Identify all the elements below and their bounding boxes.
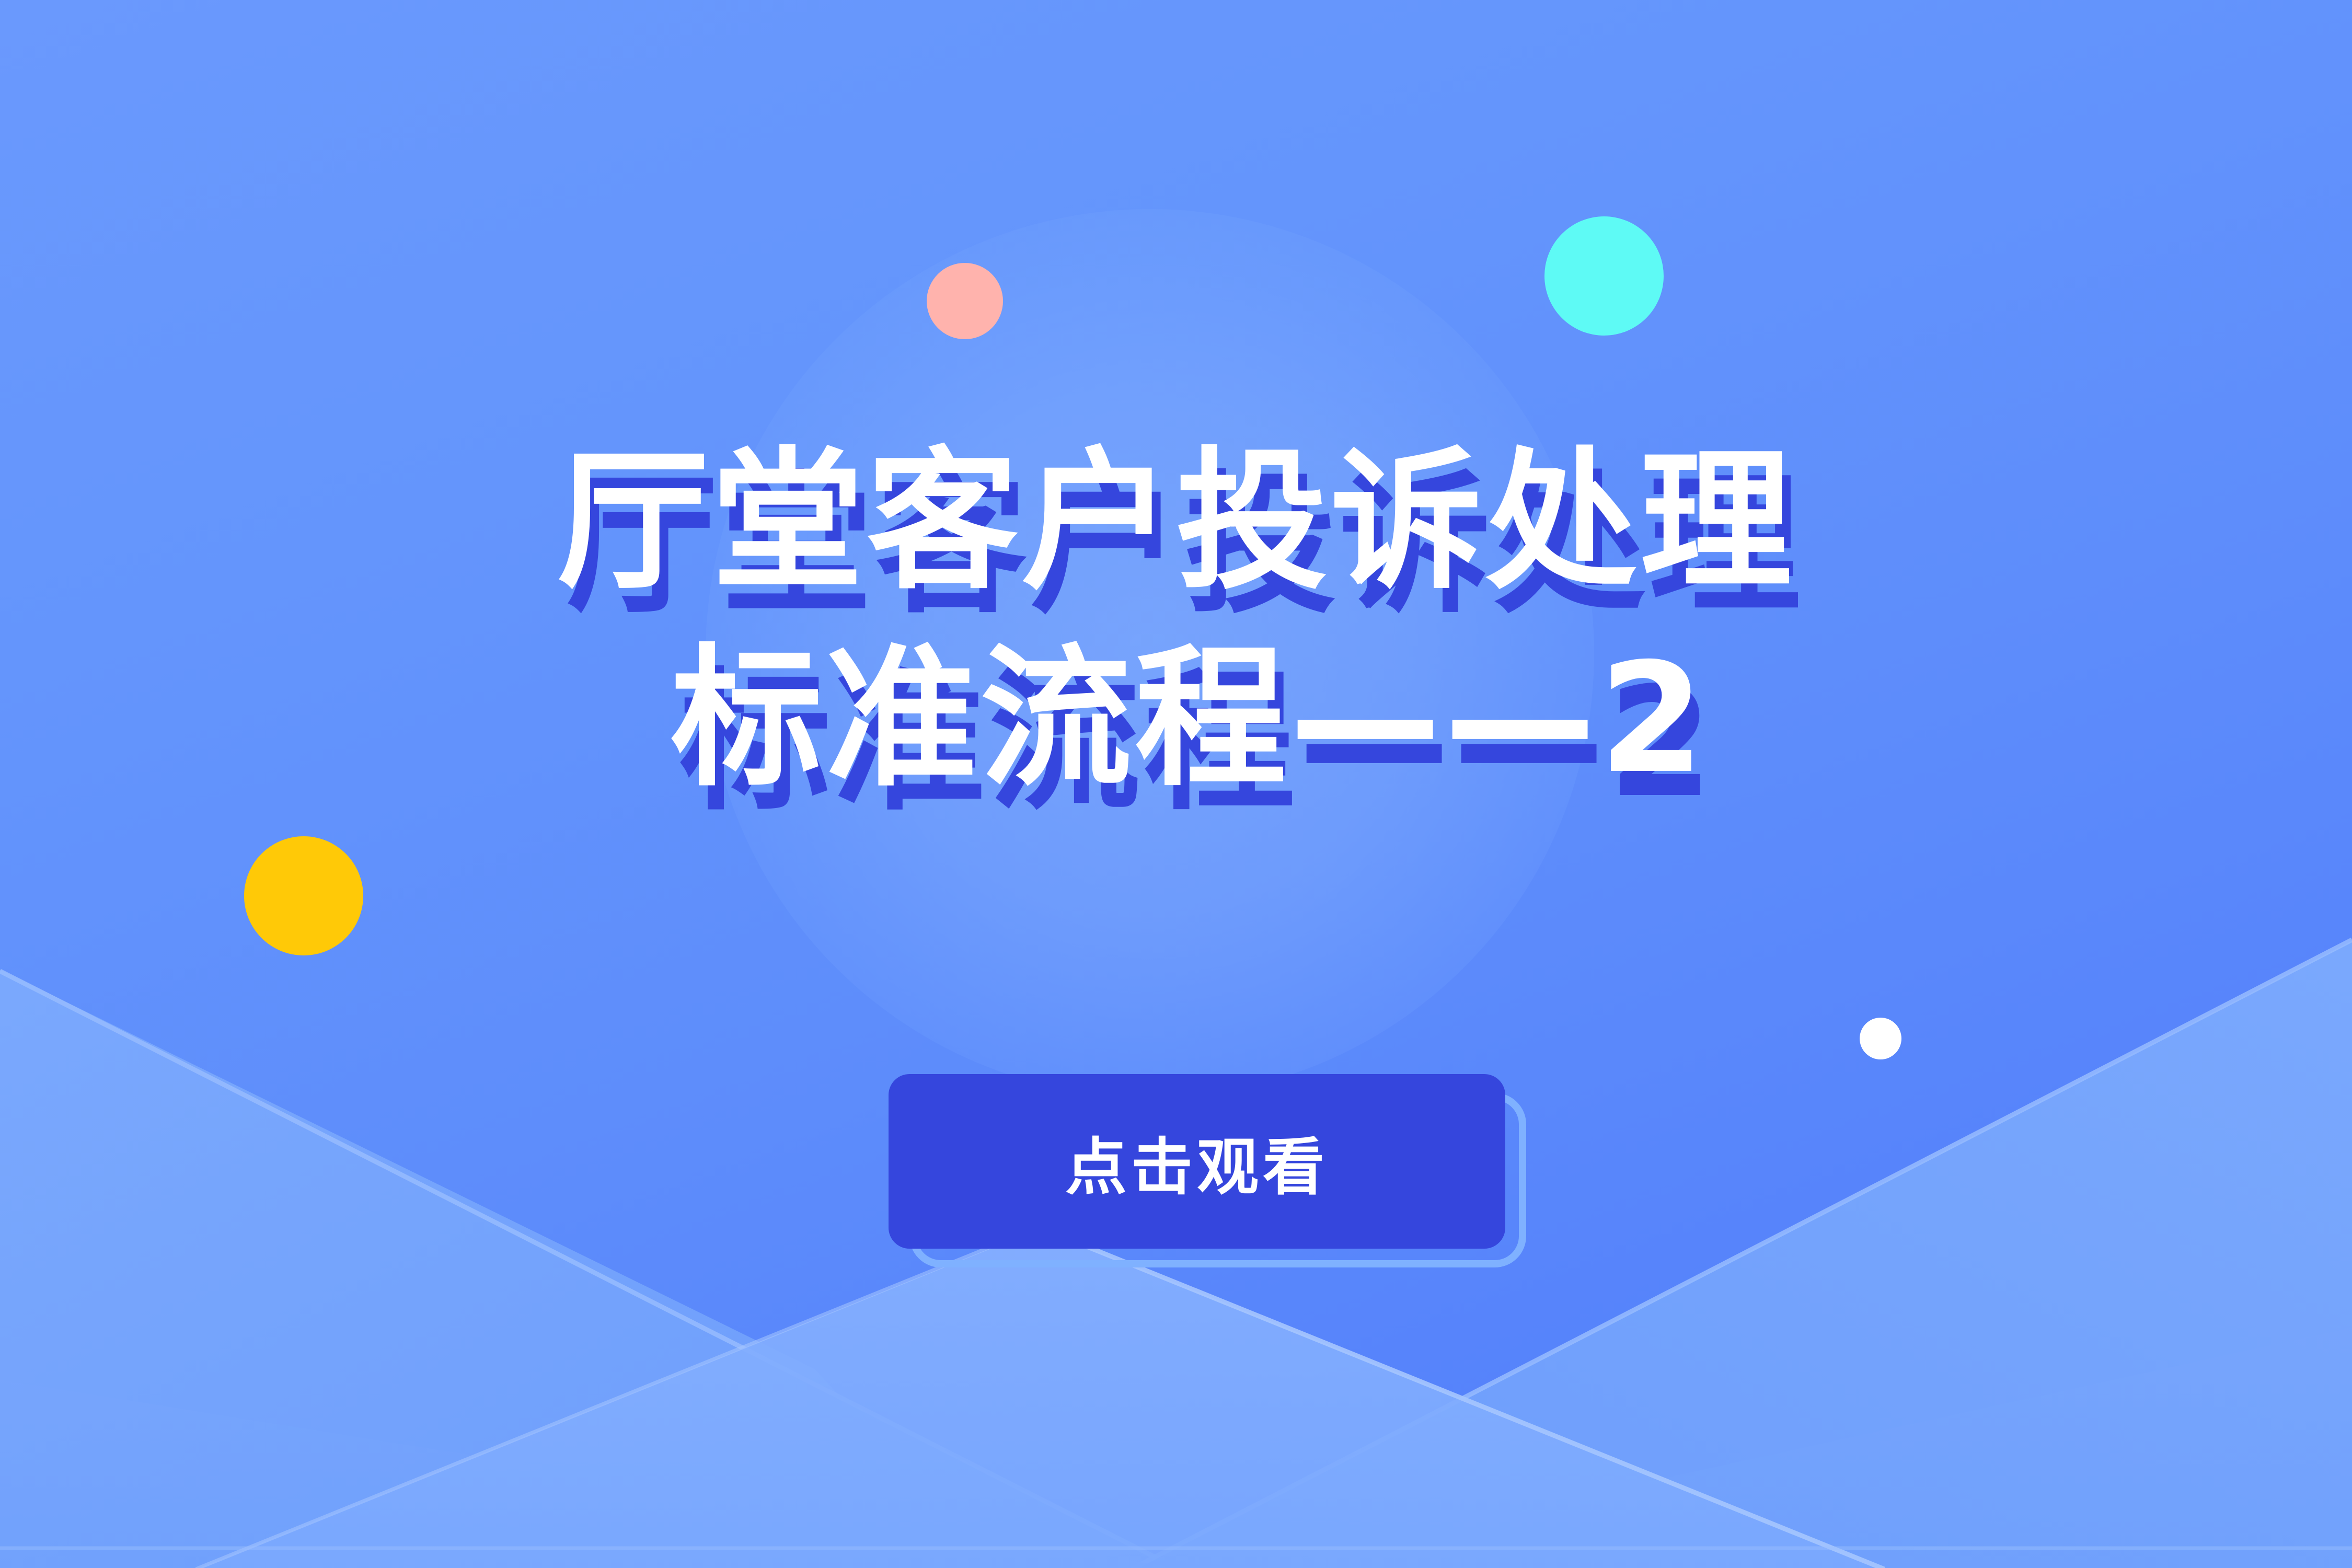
envelope-background <box>0 0 2352 1568</box>
watch-now-button[interactable]: 点击观看 <box>889 1074 1505 1249</box>
poster-canvas: 厅堂客户投诉处理 标准流程——2 点击观看 <box>0 0 2352 1568</box>
yellow-circle-icon <box>244 836 363 955</box>
cyan-circle-icon <box>1544 216 1664 336</box>
watch-now-button-label: 点击观看 <box>1065 1117 1329 1206</box>
pink-circle-icon <box>927 263 1003 339</box>
cta-container: 点击观看 <box>889 1074 1526 1267</box>
white-circle-icon <box>1860 1018 1901 1059</box>
